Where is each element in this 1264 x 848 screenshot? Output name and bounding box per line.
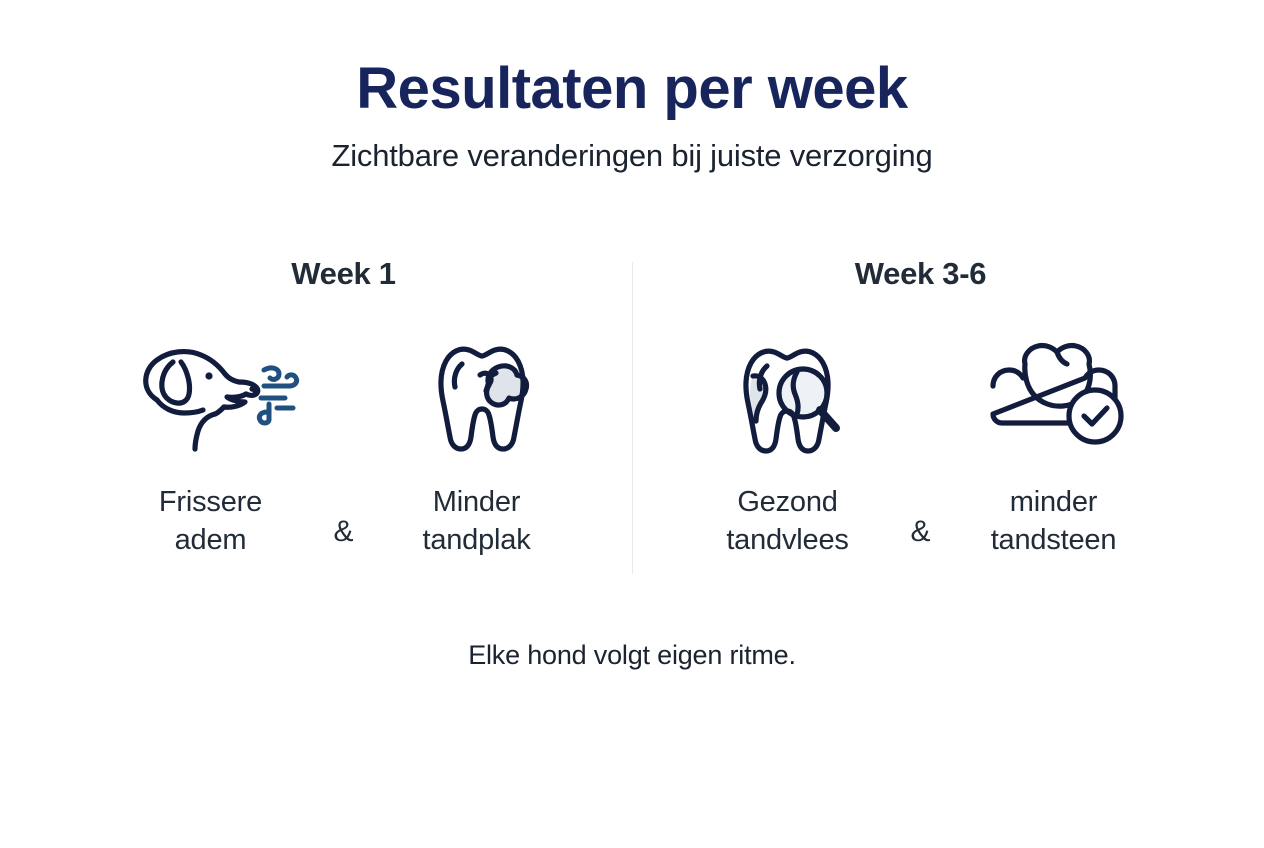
page-subtitle: Zichtbare veranderingen bij juiste verzo…: [0, 137, 1264, 174]
result-label-less-tartar: minder tandsteen: [991, 483, 1117, 560]
icon-pair-week-3-6: Gezond tandvlees &: [641, 333, 1201, 560]
result-item-fresh-breath: Frissere adem: [106, 333, 316, 560]
tooth-gum-check-icon: [979, 333, 1129, 453]
result-label-less-plaque: Minder tandplak: [422, 483, 530, 560]
connector-ampersand-week-3-6: &: [893, 333, 949, 547]
result-item-less-tartar: minder tandsteen: [949, 333, 1159, 560]
header: Resultaten per week Zichtbare veranderin…: [0, 0, 1264, 174]
result-item-healthy-gums: Gezond tandvlees: [683, 333, 893, 560]
result-label-fresh-breath: Frissere adem: [159, 483, 262, 560]
column-week-3-6: Week 3-6: [633, 258, 1201, 560]
footer-note: Elke hond volgt eigen ritme.: [0, 640, 1264, 671]
week-heading-1: Week 1: [291, 258, 395, 289]
result-label-healthy-gums: Gezond tandvlees: [726, 483, 848, 560]
column-week-1: Week 1: [64, 258, 632, 560]
result-item-less-plaque: Minder tandplak: [372, 333, 582, 560]
tooth-gum-magnifier-icon: [727, 333, 849, 453]
infographic-page: Resultaten per week Zichtbare veranderin…: [0, 0, 1264, 848]
icon-pair-week-1: Frissere adem &: [64, 333, 624, 560]
week-columns: Week 1: [0, 258, 1264, 574]
connector-ampersand-week-1: &: [316, 333, 372, 547]
tooth-plaque-icon: [418, 333, 536, 453]
dog-head-breath-icon: [121, 333, 301, 453]
page-title: Resultaten per week: [0, 58, 1264, 121]
week-heading-2: Week 3-6: [855, 258, 986, 289]
